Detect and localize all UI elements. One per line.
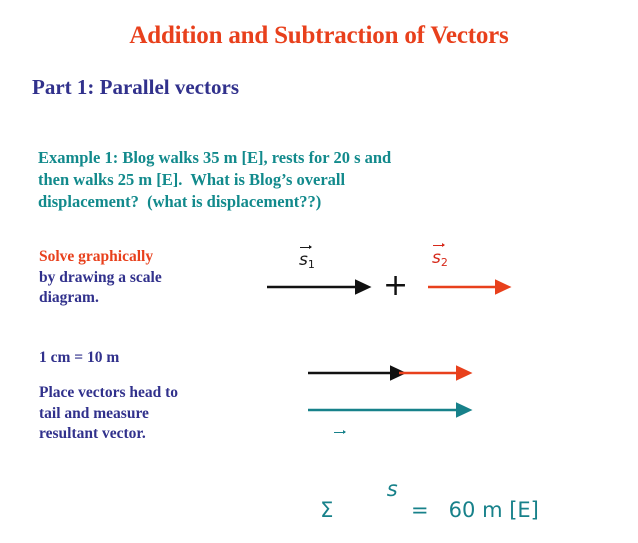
note-place-line-3: resultant vector. (39, 424, 254, 445)
slide-canvas: Addition and Subtraction of Vectors Part… (0, 0, 638, 479)
resultant-equation: Σ s = 60 m [E] (280, 416, 539, 542)
note-solve-graphically: Solve graphically by drawing a scale dia… (39, 247, 254, 309)
resultant-symbol: s (387, 477, 398, 501)
vector-arrow-accent-icon (334, 432, 345, 433)
note-scale: 1 cm = 10 m (39, 348, 254, 369)
note-place-line-2: tail and measure (39, 404, 254, 425)
example-line-1: Example 1: Blog walks 35 m [E], rests fo… (38, 147, 538, 169)
sigma-symbol: Σ (320, 498, 333, 522)
vector-diagram: s 1 s 2 + (255, 240, 635, 470)
note-solve-line-3: diagram. (39, 288, 254, 309)
resultant-value: = 60 m [E] (398, 498, 539, 522)
note-solve-emphasis: Solve graphically (39, 247, 254, 268)
example-paragraph: Example 1: Blog walks 35 m [E], rests fo… (38, 147, 538, 213)
page-title: Addition and Subtraction of Vectors (0, 22, 638, 50)
note-solve-line-2: by drawing a scale (39, 268, 254, 289)
section-heading: Part 1: Parallel vectors (32, 75, 239, 100)
example-line-3: displacement? (what is displacement??) (38, 191, 538, 213)
note-place-line-1: Place vectors head to (39, 383, 254, 404)
note-scale-text: 1 cm = 10 m (39, 348, 254, 369)
example-line-2: then walks 25 m [E]. What is Blog’s over… (38, 169, 538, 191)
note-place-vectors: Place vectors head to tail and measure r… (39, 383, 254, 445)
